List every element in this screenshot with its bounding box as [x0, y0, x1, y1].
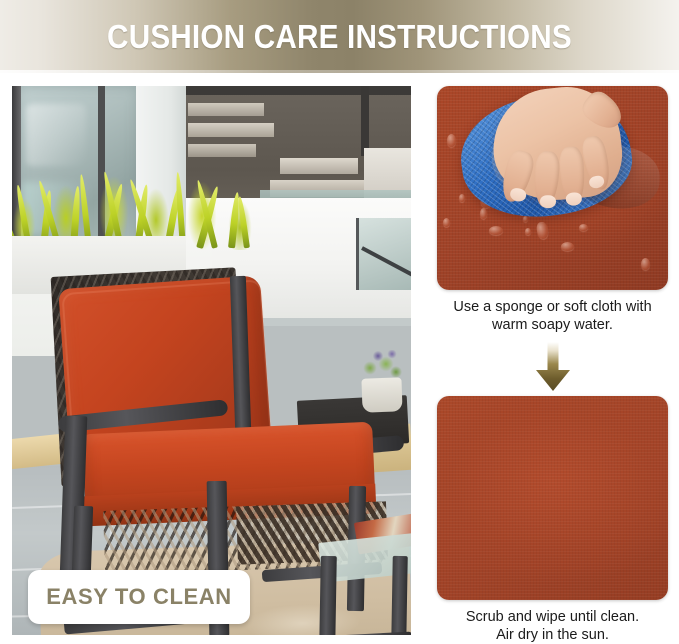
water-droplet: [523, 216, 528, 222]
side-table-leg-right: [391, 556, 408, 635]
water-droplet: [447, 134, 456, 147]
stair-tread: [188, 103, 264, 116]
glass-reflection: [26, 104, 86, 166]
water-droplet: [641, 258, 650, 270]
down-arrow-icon: [533, 342, 573, 392]
stair-tread: [188, 123, 274, 137]
water-droplet: [459, 194, 465, 202]
step-1-caption-line-1: Use a sponge or soft cloth with: [437, 298, 668, 316]
window-frame-right: [361, 86, 369, 156]
water-droplet: [579, 224, 588, 231]
fabric-weave-texture: [437, 396, 668, 600]
step-2-photo-clean-fabric: [437, 396, 668, 600]
step-2-caption-line-1: Scrub and wipe until clean.: [437, 608, 668, 626]
care-steps-column: Use a sponge or soft cloth with warm soa…: [437, 86, 668, 635]
water-droplet: [480, 208, 487, 219]
stair-tread: [280, 158, 358, 174]
step-2-caption: Scrub and wipe until clean. Air dry in t…: [437, 608, 668, 644]
water-droplet: [443, 218, 450, 227]
header-banner: CUSHION CARE INSTRUCTIONS: [0, 0, 679, 73]
step-1-caption-line-2: warm soapy water.: [437, 316, 668, 334]
easy-to-clean-badge: EASY TO CLEAN: [28, 570, 250, 624]
water-droplet: [525, 228, 531, 235]
page-title: CUSHION CARE INSTRUCTIONS: [34, 0, 645, 73]
side-table-leg-left: [319, 556, 337, 635]
step-1-photo-wiping-fabric: [437, 86, 668, 290]
water-droplet: [561, 242, 574, 251]
window-frame-top: [186, 86, 411, 95]
potted-plant-pot: [361, 377, 402, 412]
glass-railing-right: [356, 218, 411, 290]
arrow-container: [437, 338, 668, 396]
step-1-caption: Use a sponge or soft cloth with warm soa…: [437, 298, 668, 334]
hero-photo-patio-chair: [12, 86, 411, 635]
water-droplet: [489, 226, 503, 235]
stair-tread: [188, 144, 256, 157]
easy-to-clean-label: EASY TO CLEAN: [46, 584, 231, 610]
step-2-caption-line-2: Air dry in the sun.: [437, 626, 668, 644]
